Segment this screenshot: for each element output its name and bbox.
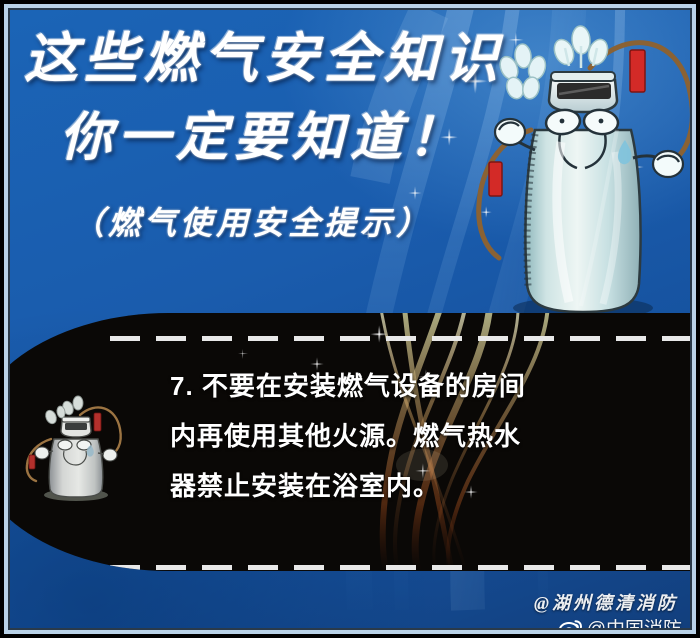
gas-cylinder-mascot-icon xyxy=(465,22,690,327)
dashed-divider-bottom xyxy=(110,565,690,570)
sparkle-icon xyxy=(238,349,248,359)
safety-tip-line-1: 7. 不要在安装燃气设备的房间 xyxy=(170,361,590,411)
watermark-weibo-label: @中国消防 xyxy=(587,614,682,628)
safety-tip-line-3: 器禁止安装在浴室内。 xyxy=(170,461,590,511)
watermark-weibo: @中国消防 xyxy=(559,614,682,628)
poster-root: 这些燃气安全知识 你一定要知道！ （燃气使用安全提示） xyxy=(0,0,700,638)
gas-cylinder-mascot-small-icon xyxy=(18,395,133,505)
safety-tip-text: 7. 不要在安装燃气设备的房间 内再使用其他火源。燃气热水 器禁止安装在浴室内。 xyxy=(170,361,590,511)
weibo-logo-icon xyxy=(559,618,583,629)
poster-title-line-1: 这些燃气安全知识 xyxy=(24,30,504,88)
poster-title-line-2: 你一定要知道！ xyxy=(60,110,466,168)
dashed-divider-top xyxy=(110,336,690,341)
watermark-handle: @湖州德清消防 xyxy=(534,589,678,615)
poster-canvas: 这些燃气安全知识 你一定要知道！ （燃气使用安全提示） xyxy=(10,10,690,628)
safety-tip-line-2: 内再使用其他火源。燃气热水 xyxy=(170,411,590,461)
poster-subtitle: （燃气使用安全提示） xyxy=(72,198,432,244)
